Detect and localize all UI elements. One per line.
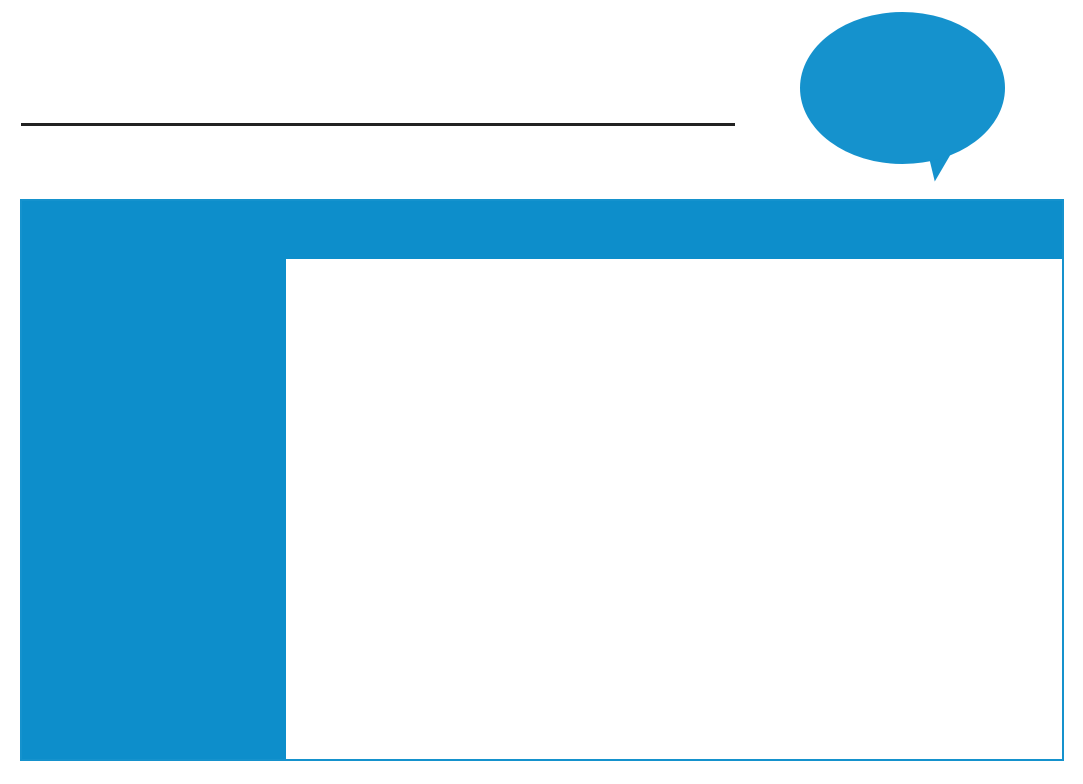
table-body <box>286 259 1062 759</box>
logo-bubble-icon <box>800 12 1005 164</box>
header-divider <box>21 123 735 126</box>
table-header-row <box>286 201 1062 259</box>
possessive-pronouns-table <box>20 199 1064 761</box>
languageeasy-logo[interactable] <box>778 2 1078 187</box>
case-label-column <box>22 201 286 759</box>
